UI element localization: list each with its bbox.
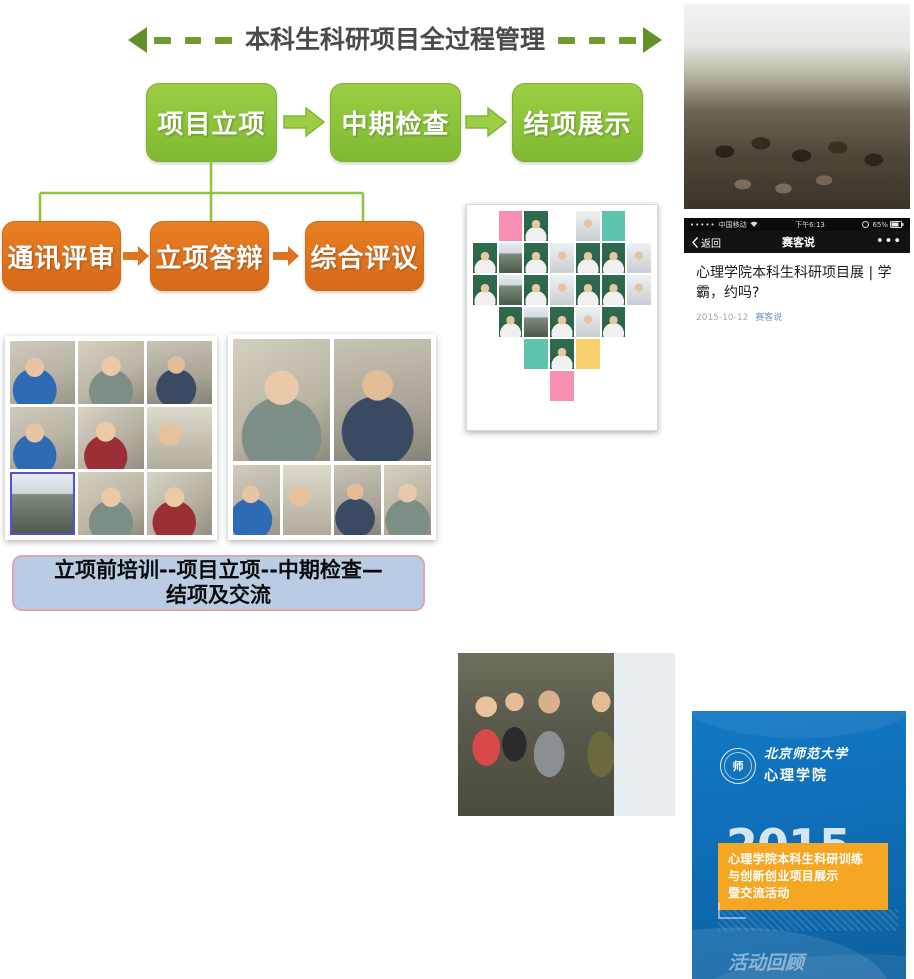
phone-nav-title: 赛客说	[721, 234, 876, 250]
phone-status-bar: ••••• 中国移动 下午6:13 65%	[684, 218, 910, 231]
mosaic-tile-photo	[576, 275, 600, 305]
photo-cell	[334, 339, 431, 461]
mosaic-tile-photo	[602, 243, 626, 273]
chevron-left-icon[interactable]	[692, 237, 698, 248]
mosaic-tile-photo	[550, 307, 574, 337]
poster-session-photo	[458, 653, 675, 816]
mosaic-tile-empty	[602, 371, 626, 401]
photo-cell-selected	[10, 472, 75, 535]
mosaic-tile-teal	[524, 339, 548, 369]
mosaic-tile-empty	[499, 371, 523, 401]
clock-label: 下午6:13	[758, 220, 863, 230]
flow-stage-3[interactable]: 结项展示	[512, 83, 643, 162]
arrow-right-icon	[464, 105, 508, 139]
title-banner: 本科生科研项目全过程管理	[128, 14, 662, 66]
classroom-review-photo-grid	[5, 336, 217, 540]
mosaic-tile-empty	[627, 211, 651, 241]
photo-cell	[384, 465, 431, 535]
bottom-caption-box: 立项前培训--项目立项--中期检查— 结项及交流	[12, 555, 425, 611]
photo-cell	[233, 465, 280, 535]
wifi-icon	[750, 221, 758, 228]
mosaic-tile-empty	[524, 371, 548, 401]
article-title: 心理学院本科生科研项目展 | 学霸，约吗?	[696, 263, 898, 303]
mosaic-tile-empty	[627, 371, 651, 401]
mosaic-tile-photo	[473, 275, 497, 305]
ellipsis-icon[interactable]: •••	[876, 239, 902, 245]
mosaic-tile-photo	[576, 243, 600, 273]
photo-cell	[10, 407, 75, 470]
dash-segment	[215, 37, 232, 44]
photo-cell	[233, 339, 330, 461]
phone-screenshot: ••••• 中国移动 下午6:13 65% 返回 赛客说 ••• 心理学院本科生…	[684, 218, 910, 328]
article-meta: 2015-10-12 赛客说	[696, 310, 898, 323]
mosaic-tile-photo	[499, 243, 523, 273]
event-poster: 师 北京师范大学 心理学院 2015 心理学院本科生科研训练 与创新创业项目展示…	[692, 711, 906, 979]
branch-connector-lines	[0, 160, 470, 226]
arrow-right-icon	[122, 243, 150, 269]
mosaic-tile-photo	[524, 211, 548, 241]
sub-stage-2[interactable]: 立项答辩	[150, 221, 269, 291]
heart-shaped-photo-mosaic	[466, 204, 658, 431]
poster-college-name: 心理学院	[764, 765, 848, 785]
seal-char: 师	[733, 758, 744, 774]
dash-segment	[619, 37, 636, 44]
dash-segment	[154, 37, 171, 44]
poster-university-name: 北京师范大学	[764, 747, 848, 762]
poster-title-banner: 心理学院本科生科研训练 与创新创业项目展示 暨交流活动	[718, 843, 888, 910]
photo-cell	[78, 407, 143, 470]
photo-cell	[334, 465, 381, 535]
signal-icon: •••••	[690, 221, 716, 229]
phone-nav-bar: 返回 赛客说 •••	[684, 231, 910, 253]
mosaic-tile-photo	[627, 275, 651, 305]
flow-stage-1[interactable]: 项目立项	[146, 83, 277, 162]
mosaic-tile-photo	[524, 243, 548, 273]
mosaic-tile-empty	[627, 339, 651, 369]
mosaic-tile-yellow	[576, 339, 600, 369]
mosaic-tile-photo	[550, 243, 574, 273]
article-date: 2015-10-12	[696, 313, 748, 323]
mosaic-tile-empty	[550, 211, 574, 241]
photo-cell	[78, 341, 143, 404]
alarm-icon	[862, 221, 869, 228]
mosaic-tile-photo	[473, 243, 497, 273]
mosaic-tile-photo	[576, 211, 600, 241]
photo-cell	[147, 472, 212, 535]
photo-cell	[147, 407, 212, 470]
sub-stage-1[interactable]: 通讯评审	[2, 221, 121, 291]
poster-banner-line-2: 与创新创业项目展示	[728, 868, 878, 885]
battery-icon	[890, 221, 904, 228]
photo-cell	[283, 465, 330, 535]
poster-footer-text: 活动回顾	[728, 948, 804, 975]
dash-segment	[589, 37, 606, 44]
mosaic-tile-photo	[499, 307, 523, 337]
mosaic-tile-empty	[473, 339, 497, 369]
mosaic-tile-empty	[602, 339, 626, 369]
mosaic-tile-empty	[576, 371, 600, 401]
dash-segment	[558, 37, 575, 44]
arrow-left-icon	[128, 27, 147, 53]
mosaic-tile-empty	[499, 339, 523, 369]
back-button-label[interactable]: 返回	[701, 235, 721, 250]
bottom-caption-text: 立项前培训--项目立项--中期检查— 结项及交流	[54, 558, 383, 608]
sub-stage-3[interactable]: 综合评议	[305, 221, 424, 291]
mosaic-tile-empty	[627, 307, 651, 337]
mosaic-tile-photo	[602, 275, 626, 305]
dash-segment	[185, 37, 202, 44]
poster-banner-line-3: 暨交流活动	[728, 885, 878, 902]
caption-line-2: 结项及交流	[166, 583, 271, 607]
photo-cell	[10, 341, 75, 404]
mosaic-tile-photo	[602, 307, 626, 337]
mosaic-tile-photo	[524, 275, 548, 305]
mosaic-tile-photo	[550, 339, 574, 369]
article-source[interactable]: 赛客说	[755, 313, 782, 323]
bnu-seal-icon: 师	[720, 748, 756, 784]
auditorium-audience-photo	[684, 4, 910, 209]
mosaic-tile-photo	[499, 275, 523, 305]
arrow-right-icon	[272, 243, 300, 269]
mosaic-tile-empty	[473, 307, 497, 337]
poster-logo-row: 师 北京师范大学 心理学院	[720, 747, 848, 785]
photo-cell	[78, 472, 143, 535]
arrow-right-icon	[282, 105, 326, 139]
mosaic-tile-photo	[524, 307, 548, 337]
mosaic-tile-teal	[602, 211, 626, 241]
arrow-right-icon	[643, 27, 662, 53]
poster-banner-line-1: 心理学院本科生科研训练	[728, 851, 878, 868]
mosaic-tile-photo	[576, 307, 600, 337]
mosaic-tile-photo	[550, 275, 574, 305]
mosaic-tile-empty	[473, 371, 497, 401]
carrier-label: 中国移动	[719, 220, 747, 230]
photo-cell	[147, 341, 212, 404]
page-title: 本科生科研项目全过程管理	[245, 20, 545, 60]
mosaic-tile-empty	[473, 211, 497, 241]
battery-percent-label: 65%	[872, 221, 888, 229]
poster-bracket-decoration	[718, 903, 746, 919]
caption-line-1: 立项前培训--项目立项--中期检查—	[54, 558, 383, 582]
seminar-portraits-panel	[228, 334, 436, 540]
mosaic-tile-pink	[550, 371, 574, 401]
phone-article-body: 心理学院本科生科研项目展 | 学霸，约吗? 2015-10-12 赛客说	[684, 253, 910, 329]
flow-stage-2[interactable]: 中期检查	[330, 83, 461, 162]
mosaic-tile-photo	[627, 243, 651, 273]
mosaic-tile-pink	[499, 211, 523, 241]
